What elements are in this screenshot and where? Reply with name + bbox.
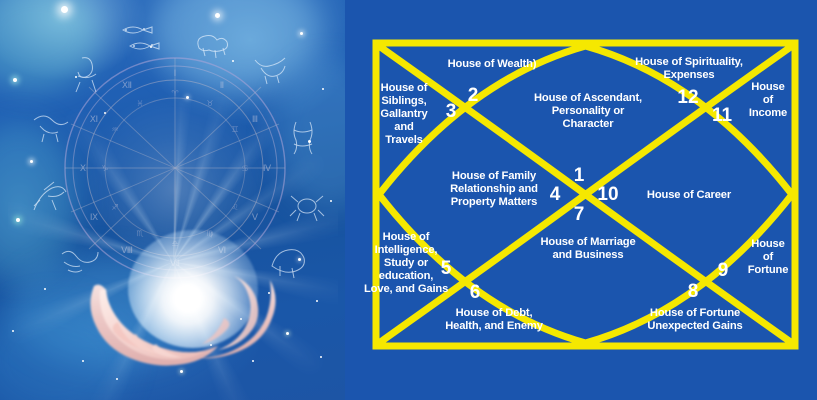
- star: [268, 292, 270, 294]
- svg-text:♋: ♋: [241, 164, 248, 173]
- constellation-cancer: [288, 186, 326, 224]
- svg-text:♑: ♑: [101, 164, 108, 173]
- star: [104, 112, 106, 114]
- star: [30, 160, 33, 163]
- star: [308, 140, 311, 143]
- star: [232, 60, 234, 62]
- svg-text:Ⅳ: Ⅳ: [262, 163, 271, 173]
- star: [300, 32, 303, 35]
- constellation-scorpio: [58, 244, 102, 280]
- astrology-crystal-ball-photo: Ⅰ Ⅱ Ⅲ Ⅳ Ⅴ Ⅵ Ⅶ Ⅷ Ⅸ Ⅹ Ⅺ Ⅻ ♈ ♉ ♊ ♋ ♌ ♍ ♎: [0, 0, 345, 400]
- zodiac-wheel: Ⅰ Ⅱ Ⅲ Ⅳ Ⅴ Ⅵ Ⅶ Ⅷ Ⅸ Ⅹ Ⅺ Ⅻ ♈ ♉ ♊ ♋ ♌ ♍ ♎: [61, 54, 289, 282]
- star: [320, 356, 322, 358]
- constellation-leo: [268, 242, 308, 280]
- constellation-taurus: [251, 52, 291, 86]
- star: [150, 46, 152, 48]
- light-burst: [8, 97, 338, 400]
- star: [252, 360, 254, 362]
- svg-text:♌: ♌: [231, 203, 238, 212]
- constellation-aries: [193, 28, 233, 60]
- star: [180, 370, 183, 373]
- svg-text:Ⅻ: Ⅻ: [121, 80, 131, 90]
- constellation-pisces: [120, 22, 168, 54]
- svg-text:Ⅸ: Ⅸ: [89, 212, 97, 222]
- star: [186, 96, 189, 99]
- constellation-capricorn: [30, 110, 72, 146]
- svg-text:Ⅲ: Ⅲ: [251, 114, 257, 124]
- star: [44, 288, 46, 290]
- star: [116, 378, 118, 380]
- nebula-cloud: [150, 0, 320, 90]
- cupped-hands: [84, 268, 280, 393]
- svg-text:Ⅺ: Ⅺ: [89, 114, 97, 124]
- star: [12, 330, 14, 332]
- glowing-crystal-ball: [128, 230, 258, 348]
- constellation-gemini: [286, 118, 324, 158]
- svg-text:Ⅷ: Ⅷ: [121, 245, 133, 255]
- svg-text:♈: ♈: [171, 89, 178, 98]
- svg-text:Ⅴ: Ⅴ: [251, 212, 258, 222]
- vedic-birth-chart: House of Wealth) 2 House of Spirituality…: [372, 39, 799, 350]
- svg-text:Ⅰ: Ⅰ: [173, 68, 176, 78]
- nebula-cloud: [0, 0, 100, 90]
- constellation-aquarius: [66, 52, 108, 96]
- svg-text:♊: ♊: [231, 125, 238, 134]
- svg-text:♒: ♒: [111, 125, 118, 134]
- nebula-cloud: [0, 300, 130, 400]
- star: [240, 318, 242, 320]
- constellation-sagittarius: [28, 176, 70, 216]
- star: [75, 76, 77, 78]
- star: [330, 200, 332, 202]
- star: [210, 344, 212, 346]
- svg-text:Ⅹ: Ⅹ: [79, 163, 85, 173]
- star: [82, 360, 84, 362]
- nebula-cloud: [10, 255, 210, 365]
- svg-text:♍: ♍: [206, 229, 213, 238]
- star: [16, 218, 20, 222]
- svg-text:Ⅵ: Ⅵ: [217, 245, 225, 255]
- svg-text:♏: ♏: [136, 229, 144, 238]
- star: [13, 78, 17, 82]
- star: [148, 352, 150, 354]
- svg-text:♐: ♐: [111, 203, 118, 212]
- nebula-cloud: [0, 120, 80, 280]
- chart-lines: [372, 39, 799, 350]
- star: [286, 332, 289, 335]
- star: [322, 88, 324, 90]
- svg-text:Ⅱ: Ⅱ: [219, 80, 223, 90]
- star: [61, 6, 68, 13]
- nebula-cloud: [275, 60, 345, 210]
- page-root: Ⅰ Ⅱ Ⅲ Ⅳ Ⅴ Ⅵ Ⅶ Ⅷ Ⅸ Ⅹ Ⅺ Ⅻ ♈ ♉ ♊ ♋ ♌ ♍ ♎: [0, 0, 817, 400]
- star: [316, 300, 318, 302]
- svg-text:♎: ♎: [171, 239, 178, 248]
- star: [298, 258, 301, 261]
- star: [215, 13, 220, 18]
- svg-text:Ⅶ: Ⅶ: [169, 258, 179, 268]
- svg-text:♓: ♓: [136, 99, 143, 108]
- svg-text:♉: ♉: [206, 99, 213, 108]
